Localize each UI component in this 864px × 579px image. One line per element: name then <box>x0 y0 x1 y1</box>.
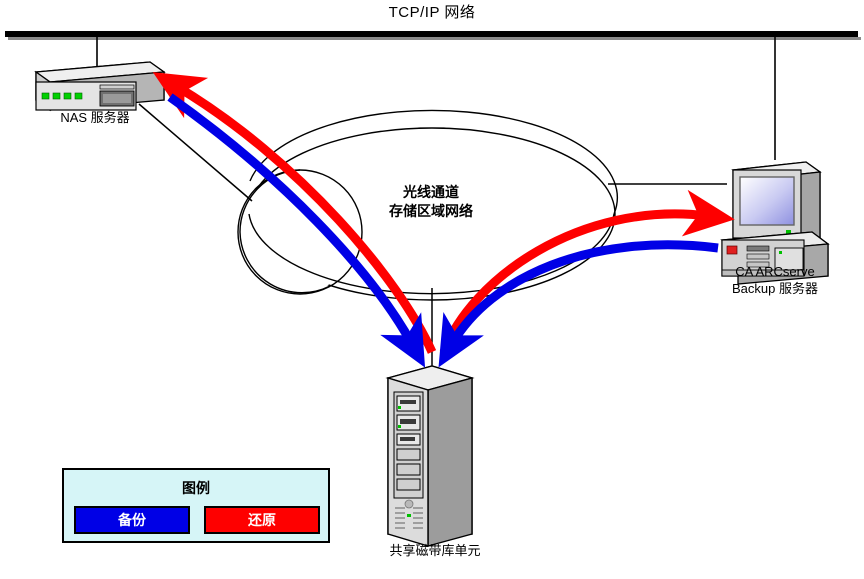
tape-library-tower-icon <box>388 366 472 546</box>
arcserve-label-line1: CA ARCserve <box>685 263 864 280</box>
arcserve-node-label: CA ARCserve Backup 服务器 <box>685 263 864 297</box>
legend-box: 图例 备份 还原 <box>62 468 330 543</box>
legend-swatch-backup: 备份 <box>74 506 190 534</box>
nas-appliance-icon <box>36 62 164 110</box>
tcpip-backbone-line <box>5 31 861 40</box>
arcserve-label-line2: Backup 服务器 <box>685 280 864 297</box>
tape-library-node-label: 共享磁带库单元 <box>335 543 535 558</box>
page-title: TCP/IP 网络 <box>0 5 864 20</box>
nas-node-label: NAS 服务器 <box>0 110 190 125</box>
san-cloud-label: 光线通道 存储区域网络 <box>331 183 531 221</box>
legend-swatch-restore: 还原 <box>204 506 320 534</box>
san-cloud-label-line1: 光线通道 <box>331 183 531 202</box>
san-cloud-label-line2: 存储区域网络 <box>331 202 531 221</box>
legend-title: 图例 <box>64 478 328 498</box>
network-diagram-canvas: TCP/IP 网络 NAS 服务器 光线通道 存储区域网络 共享磁带库单元 CA… <box>0 0 864 579</box>
